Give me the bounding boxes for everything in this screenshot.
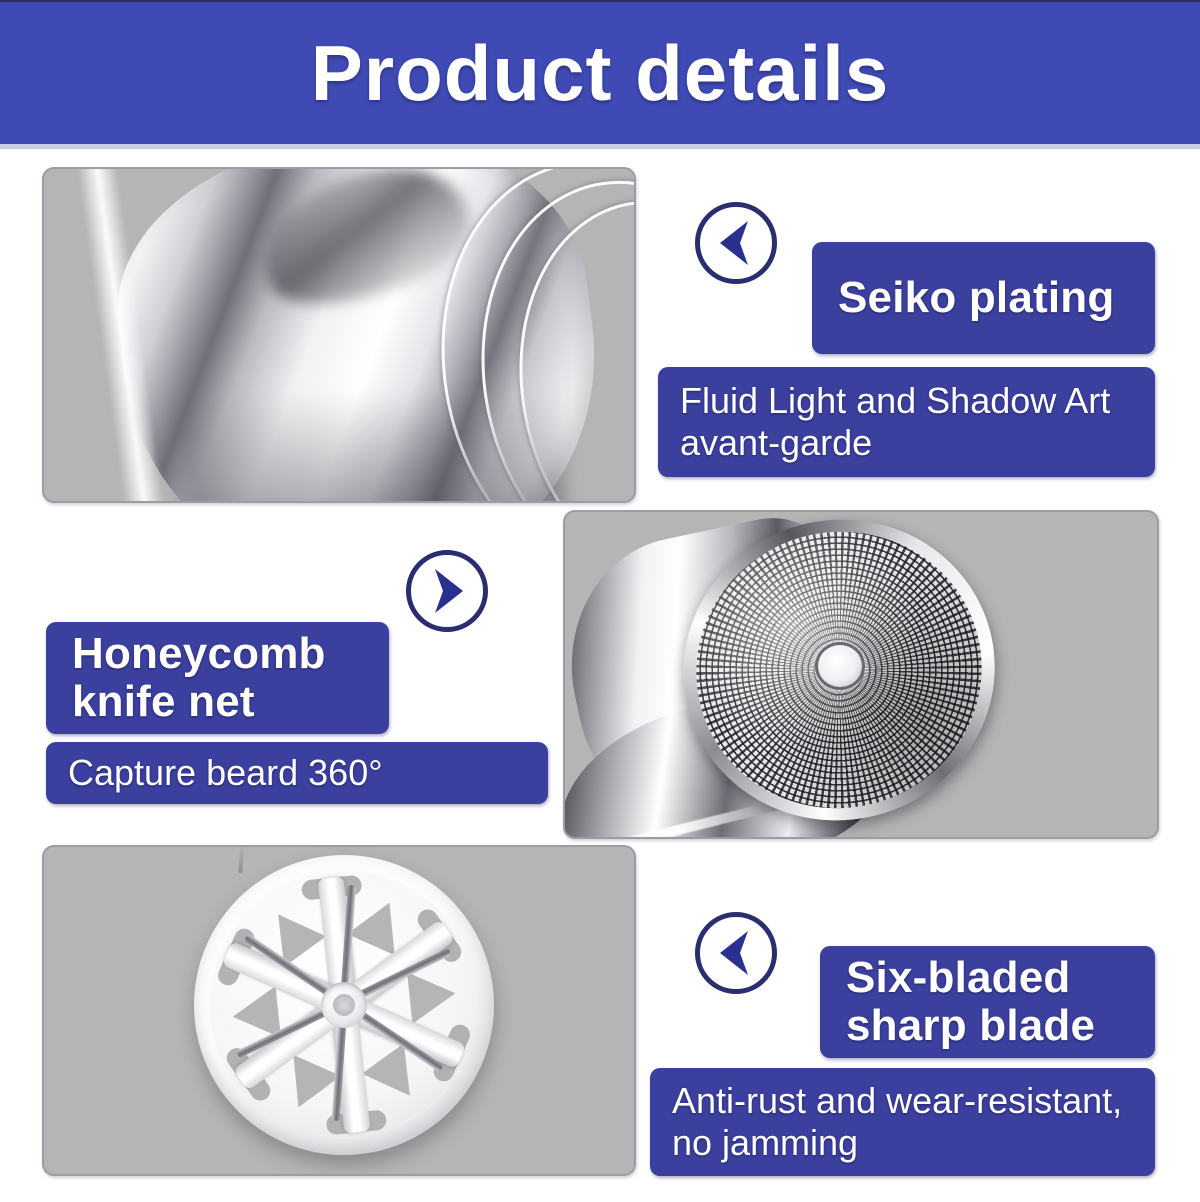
arrow-left-circle-icon — [695, 912, 777, 994]
feature-description-text: Anti-rust and wear-resistant, no jamming — [672, 1080, 1133, 1164]
feature-image-seiko-plating — [42, 167, 636, 503]
cutter-disc — [179, 845, 509, 1170]
feature-description-honeycomb-knife-net: Capture beard 360° — [46, 742, 548, 804]
feature-description-six-bladed-sharp-blade: Anti-rust and wear-resistant, no jamming — [650, 1068, 1155, 1176]
chrome-lower-shadow — [184, 391, 564, 503]
feature-image-six-bladed-sharp-blade — [42, 845, 636, 1176]
foil-center-hub — [815, 642, 865, 690]
page-header-banner: Product details — [0, 2, 1200, 144]
feature-description-text: Fluid Light and Shadow Art avant-garde — [680, 380, 1133, 464]
page-title: Product details — [311, 34, 889, 112]
feature-description-text: Capture beard 360° — [68, 752, 383, 794]
feature-title-six-bladed-sharp-blade: Six-bladed sharp blade — [820, 946, 1155, 1058]
feature-description-seiko-plating: Fluid Light and Shadow Art avant-garde — [658, 367, 1155, 477]
feature-title-text: Six-bladed sharp blade — [846, 954, 1129, 1049]
feature-title-seiko-plating: Seiko plating — [812, 242, 1155, 354]
arrow-right-circle-icon — [406, 550, 488, 632]
feature-title-text: Seiko plating — [838, 274, 1114, 322]
product-details-page: Product details Seiko plating Fluid Ligh… — [0, 0, 1200, 1202]
cutter-center-pin — [238, 845, 245, 873]
arrow-left-circle-icon — [695, 202, 777, 284]
header-underline — [0, 144, 1200, 149]
feature-title-text: Honeycomb knife net — [72, 630, 363, 725]
feature-image-honeycomb-knife-net — [563, 510, 1159, 839]
feature-title-honeycomb-knife-net: Honeycomb knife net — [46, 622, 389, 734]
